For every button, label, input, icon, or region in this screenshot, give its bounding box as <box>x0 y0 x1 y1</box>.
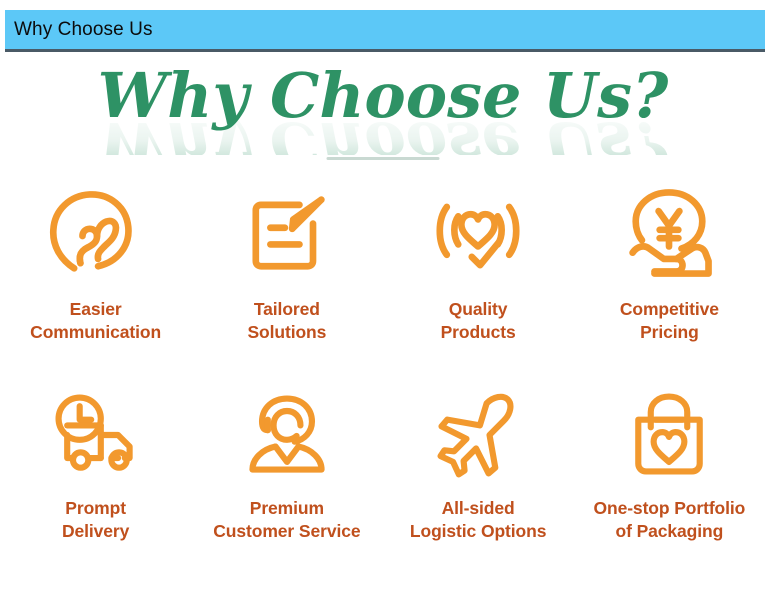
feature-label-line2: Products <box>441 322 516 342</box>
document-pencil-icon <box>235 182 339 286</box>
feature-label: One-stop Portfolioof Packaging <box>593 497 745 544</box>
feature-label-line2: Logistic Options <box>410 521 546 541</box>
feature-grid: EasierCommunication TailoredSolutions <box>0 182 765 592</box>
feature-label-line1: Tailored <box>254 299 320 319</box>
ear-listening-icon <box>44 182 148 286</box>
feature-premium-customer-service[interactable]: PremiumCustomer Service <box>191 387 382 592</box>
app-header-bar: Why Choose Us <box>5 10 765 52</box>
headline-section: Why Choose Us? Why Choose Us? <box>0 55 765 160</box>
feature-label-line1: All-sided <box>442 498 515 518</box>
feature-label-line1: Prompt <box>65 498 126 518</box>
feature-label-line1: Competitive <box>620 299 719 319</box>
hand-coin-yen-icon <box>617 182 721 286</box>
feature-easier-communication[interactable]: EasierCommunication <box>0 182 191 387</box>
headset-agent-icon <box>232 387 342 483</box>
delivery-truck-clock-icon <box>41 387 151 483</box>
shopping-bag-heart-icon <box>614 387 724 483</box>
headline-divider <box>326 157 439 160</box>
feature-label-line1: Easier <box>70 299 122 319</box>
feature-label: All-sidedLogistic Options <box>410 497 546 544</box>
page-content: Why Choose Us? Why Choose Us? EasierComm… <box>0 55 765 599</box>
feature-label-line2: Delivery <box>62 521 129 541</box>
heart-signal-check-icon <box>426 182 530 286</box>
feature-label-line2: Solutions <box>247 322 326 342</box>
feature-label: CompetitivePricing <box>620 298 719 345</box>
feature-label-line1: One-stop Portfolio <box>593 498 745 518</box>
feature-label-line2: Pricing <box>640 322 699 342</box>
feature-label-line2: Communication <box>30 322 161 342</box>
page-title: Why Choose Us <box>5 20 153 39</box>
feature-competitive-pricing[interactable]: CompetitivePricing <box>574 182 765 387</box>
feature-label-line2: Customer Service <box>213 521 360 541</box>
feature-label: EasierCommunication <box>30 298 161 345</box>
feature-quality-products[interactable]: QualityProducts <box>383 182 574 387</box>
feature-label: TailoredSolutions <box>247 298 326 345</box>
feature-label-line1: Premium <box>250 498 324 518</box>
feature-label: PromptDelivery <box>62 497 129 544</box>
feature-one-stop-portfolio-of-packaging[interactable]: One-stop Portfolioof Packaging <box>574 387 765 592</box>
feature-tailored-solutions[interactable]: TailoredSolutions <box>191 182 382 387</box>
feature-label-line2: of Packaging <box>616 521 724 541</box>
feature-prompt-delivery[interactable]: PromptDelivery <box>0 387 191 592</box>
feature-label: QualityProducts <box>441 298 516 345</box>
feature-all-sided-logistic-options[interactable]: All-sidedLogistic Options <box>383 387 574 592</box>
feature-label-line1: Quality <box>449 299 508 319</box>
feature-label: PremiumCustomer Service <box>213 497 360 544</box>
headline-why-choose-us: Why Choose Us? Why Choose Us? <box>73 55 693 160</box>
airplane-icon <box>423 387 533 483</box>
